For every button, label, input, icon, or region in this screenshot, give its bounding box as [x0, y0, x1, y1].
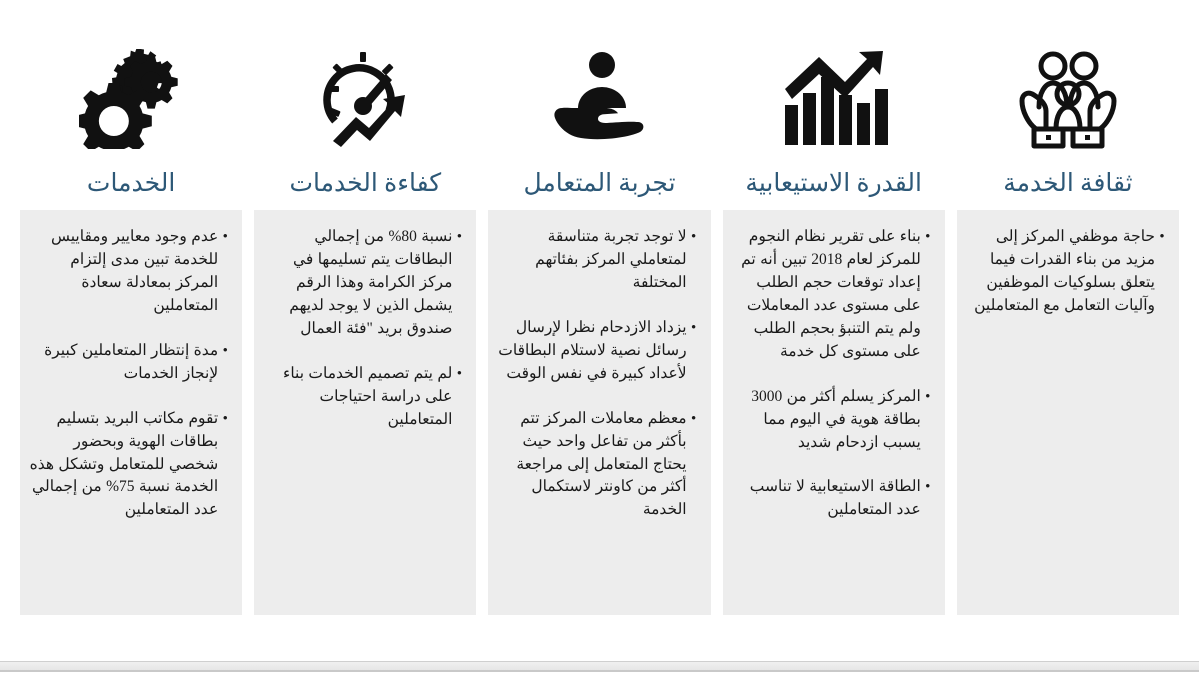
bullet-dot-icon: • — [921, 476, 935, 499]
bullet-text: عدم وجود معايير ومقاييس للخدمة تبين مدى … — [26, 226, 218, 318]
bullet-text: الطاقة الاستيعابية لا تناسب عدد المتعامل… — [729, 476, 921, 522]
bullet-dot-icon: • — [1155, 226, 1169, 249]
speedometer-growth-icon — [311, 40, 419, 158]
bullet-list-customer-experience: • لا توجد تجربة متناسقة لمتعاملي المركز … — [494, 226, 700, 522]
bullet-list-service-efficiency: • نسبة 80% من إجمالي البطاقات يتم تسليمه… — [260, 226, 466, 432]
bullet-text: نسبة 80% من إجمالي البطاقات يتم تسليمها … — [260, 226, 452, 341]
column-capacity: القدرة الاستيعابية • بناء على تقرير نظام… — [723, 40, 945, 615]
column-title-capacity: القدرة الاستيعابية — [745, 158, 922, 210]
bullet-text: يزداد الازدحام نظرا لإرسال رسائل نصية لا… — [494, 317, 686, 386]
bullet-dot-icon: • — [687, 317, 701, 340]
hand-holding-person-icon — [548, 40, 652, 158]
column-title-service-culture: ثقافة الخدمة — [1003, 158, 1132, 210]
column-customer-experience: تجربة المتعامل • لا توجد تجربة متناسقة ل… — [488, 40, 710, 615]
bullet-dot-icon: • — [687, 226, 701, 249]
list-item: • الطاقة الاستيعابية لا تناسب عدد المتعا… — [729, 476, 935, 522]
hands-family-icon — [1012, 40, 1124, 158]
column-services: الخدمات • عدم وجود معايير ومقاييس للخدمة… — [20, 40, 242, 615]
bullet-list-services: • عدم وجود معايير ومقاييس للخدمة تبين مد… — [26, 226, 232, 522]
bullet-list-capacity: • بناء على تقرير نظام النجوم للمركز لعام… — [729, 226, 935, 522]
list-item: • المركز يسلم أكثر من 3000 بطاقة هوية في… — [729, 386, 935, 455]
bullet-list-service-culture: • حاجة موظفي المركز إلى مزيد من بناء الق… — [963, 226, 1169, 318]
list-item: • مدة إنتظار المتعاملين كبيرة لإنجاز الخ… — [26, 340, 232, 386]
bullet-dot-icon: • — [452, 363, 466, 386]
column-service-efficiency: كفاءة الخدمات • نسبة 80% من إجمالي البطا… — [254, 40, 476, 615]
panel-service-culture: • حاجة موظفي المركز إلى مزيد من بناء الق… — [957, 210, 1179, 615]
list-item: • لم يتم تصميم الخدمات بناء على دراسة اح… — [260, 363, 466, 432]
column-title-services: الخدمات — [87, 158, 175, 210]
panel-capacity: • بناء على تقرير نظام النجوم للمركز لعام… — [723, 210, 945, 615]
bullet-text: لا توجد تجربة متناسقة لمتعاملي المركز بف… — [494, 226, 686, 295]
bullet-dot-icon: • — [687, 408, 701, 431]
list-item: • حاجة موظفي المركز إلى مزيد من بناء الق… — [963, 226, 1169, 318]
list-item: • بناء على تقرير نظام النجوم للمركز لعام… — [729, 226, 935, 364]
list-item: • يزداد الازدحام نظرا لإرسال رسائل نصية … — [494, 317, 700, 386]
bullet-dot-icon: • — [218, 408, 232, 431]
panel-service-efficiency: • نسبة 80% من إجمالي البطاقات يتم تسليمه… — [254, 210, 476, 615]
columns-container: الخدمات • عدم وجود معايير ومقاييس للخدمة… — [0, 40, 1199, 615]
bullet-text: بناء على تقرير نظام النجوم للمركز لعام 2… — [729, 226, 921, 364]
bullet-dot-icon: • — [452, 226, 466, 249]
panel-customer-experience: • لا توجد تجربة متناسقة لمتعاملي المركز … — [488, 210, 710, 615]
bullet-text: المركز يسلم أكثر من 3000 بطاقة هوية في ا… — [729, 386, 921, 455]
bar-chart-growth-icon — [779, 40, 889, 158]
bullet-text: لم يتم تصميم الخدمات بناء على دراسة احتي… — [260, 363, 452, 432]
list-item: • نسبة 80% من إجمالي البطاقات يتم تسليمه… — [260, 226, 466, 341]
column-service-culture: ثقافة الخدمة • حاجة موظفي المركز إلى مزي… — [957, 40, 1179, 615]
footer-divider-bar — [0, 661, 1199, 673]
bullet-dot-icon: • — [218, 340, 232, 363]
bullet-text: حاجة موظفي المركز إلى مزيد من بناء القدر… — [963, 226, 1155, 318]
bullet-text: تقوم مكاتب البريد بتسليم بطاقات الهوية و… — [26, 408, 218, 523]
list-item: • لا توجد تجربة متناسقة لمتعاملي المركز … — [494, 226, 700, 295]
bullet-dot-icon: • — [921, 386, 935, 409]
slide-canvas: الخدمات • عدم وجود معايير ومقاييس للخدمة… — [0, 0, 1199, 684]
gears-icon — [79, 40, 183, 158]
list-item: • تقوم مكاتب البريد بتسليم بطاقات الهوية… — [26, 408, 232, 523]
list-item: • معظم معاملات المركز تتم بأكثر من تفاعل… — [494, 408, 700, 523]
bullet-text: معظم معاملات المركز تتم بأكثر من تفاعل و… — [494, 408, 686, 523]
panel-services: • عدم وجود معايير ومقاييس للخدمة تبين مد… — [20, 210, 242, 615]
bullet-dot-icon: • — [218, 226, 232, 249]
list-item: • عدم وجود معايير ومقاييس للخدمة تبين مد… — [26, 226, 232, 318]
column-title-customer-experience: تجربة المتعامل — [523, 158, 675, 210]
bullet-text: مدة إنتظار المتعاملين كبيرة لإنجاز الخدم… — [26, 340, 218, 386]
bullet-dot-icon: • — [921, 226, 935, 249]
column-title-service-efficiency: كفاءة الخدمات — [289, 158, 441, 210]
